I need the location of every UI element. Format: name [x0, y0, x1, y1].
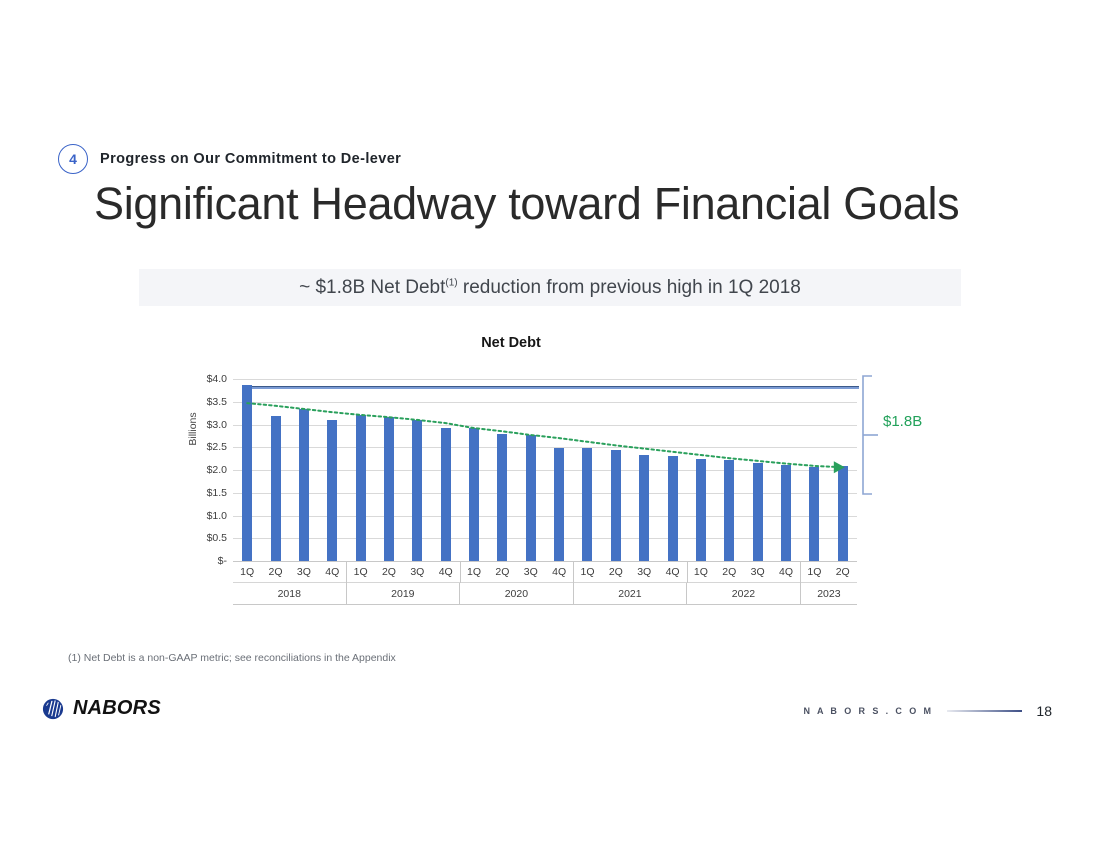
x-axis-quarter-label: 4Q: [432, 562, 460, 582]
callout-text: ~ $1.8B Net Debt(1) reduction from previ…: [299, 277, 801, 299]
y-axis-tick-label: $2.5: [169, 441, 227, 453]
peak-reference-line-dark: [252, 386, 859, 387]
x-axis-quarter-label: 3Q: [290, 562, 318, 582]
x-axis-year-label: 2022: [687, 583, 801, 604]
chart-bar: [441, 428, 451, 561]
nabors-logo: NABORS: [42, 697, 161, 720]
y-axis-tick-labels: $4.0$3.5$3.0$2.5$2.0$1.5$1.0$0.5$-: [165, 379, 227, 561]
bar-slot: [800, 379, 828, 561]
chart-bar: [724, 460, 734, 561]
bar-slot: [403, 379, 431, 561]
chart-bar: [242, 385, 252, 561]
bar-slot: [630, 379, 658, 561]
x-axis-year-label: 2020: [460, 583, 574, 604]
x-axis-quarter-label: 2Q: [261, 562, 289, 582]
bar-slot: [290, 379, 318, 561]
section-eyebrow: 4 Progress on Our Commitment to De-lever: [58, 144, 401, 174]
bar-slot: [375, 379, 403, 561]
bar-slot: [573, 379, 601, 561]
x-axis-year-row: 201820192020202120222023: [233, 583, 857, 604]
x-axis-quarter-label: 2Q: [829, 562, 857, 582]
chart-bars: [233, 379, 857, 561]
bar-slot: [261, 379, 289, 561]
chart-bar: [497, 434, 507, 561]
chart-bar: [469, 428, 479, 561]
chart-bar: [838, 466, 848, 561]
bar-slot: [829, 379, 857, 561]
bracket-value-label: $1.8B: [883, 413, 922, 430]
chart-bar: [412, 420, 422, 561]
page-number: 18: [1036, 703, 1052, 719]
x-axis-quarter-label: 1Q: [573, 562, 601, 582]
callout-prefix: ~ $1.8B Net Debt: [299, 277, 445, 298]
x-axis-year-label: 2021: [574, 583, 688, 604]
chart-bar: [781, 465, 791, 561]
x-axis-quarter-label: 3Q: [743, 562, 771, 582]
bar-slot: [318, 379, 346, 561]
callout-banner: ~ $1.8B Net Debt(1) reduction from previ…: [139, 269, 961, 306]
x-axis-quarter-label: 2Q: [488, 562, 516, 582]
y-axis-tick-label: $3.0: [169, 419, 227, 431]
y-axis-tick-label: $3.5: [169, 396, 227, 408]
chart-bar: [271, 416, 281, 561]
chart-plot-area: [233, 379, 857, 561]
y-axis-tick-label: $0.5: [169, 532, 227, 544]
chart-bar: [668, 456, 678, 561]
bar-slot: [715, 379, 743, 561]
x-axis-quarter-label: 2Q: [375, 562, 403, 582]
year-separator: [687, 562, 688, 583]
y-axis-tick-label: $4.0: [169, 373, 227, 385]
y-axis-tick-label: $-: [169, 555, 227, 567]
callout-suffix: reduction from previous high in 1Q 2018: [458, 277, 801, 298]
x-axis-quarter-label: 3Q: [517, 562, 545, 582]
x-axis-year-label: 2018: [233, 583, 347, 604]
y-axis-tick-label: $1.0: [169, 510, 227, 522]
bar-slot: [602, 379, 630, 561]
year-separator: [573, 562, 574, 583]
x-axis: 1Q2Q3Q4Q1Q2Q3Q4Q1Q2Q3Q4Q1Q2Q3Q4Q1Q2Q3Q4Q…: [233, 561, 857, 605]
chart-bar: [356, 415, 366, 561]
page-title: Significant Headway toward Financial Goa…: [94, 178, 959, 230]
x-axis-quarter-label: 1Q: [687, 562, 715, 582]
chart-bar: [526, 435, 536, 561]
footer-divider-rule: [947, 710, 1022, 711]
bar-slot: [432, 379, 460, 561]
y-axis-tick-label: $1.5: [169, 487, 227, 499]
x-axis-quarter-label: 4Q: [658, 562, 686, 582]
chart-bar: [554, 448, 564, 561]
x-axis-quarter-label: 3Q: [630, 562, 658, 582]
x-axis-year-label: 2019: [347, 583, 461, 604]
bar-slot: [772, 379, 800, 561]
x-axis-quarter-row: 1Q2Q3Q4Q1Q2Q3Q4Q1Q2Q3Q4Q1Q2Q3Q4Q1Q2Q3Q4Q…: [233, 562, 857, 583]
section-number-badge: 4: [58, 144, 88, 174]
nabors-logo-text: NABORS: [73, 697, 161, 720]
nabors-logo-icon: [42, 698, 64, 720]
y-axis-tick-label: $2.0: [169, 464, 227, 476]
chart-bar: [384, 417, 394, 561]
x-axis-quarter-label: 3Q: [403, 562, 431, 582]
bar-slot: [743, 379, 771, 561]
bracket-icon: [858, 375, 898, 495]
bar-slot: [545, 379, 573, 561]
chart-bar: [696, 459, 706, 561]
chart-bar: [327, 420, 337, 562]
section-eyebrow-label: Progress on Our Commitment to De-lever: [100, 151, 401, 167]
chart-bar: [753, 463, 763, 561]
x-axis-quarter-label: 4Q: [772, 562, 800, 582]
year-separator: [346, 562, 347, 583]
footnote: (1) Net Debt is a non-GAAP metric; see r…: [68, 652, 396, 664]
x-axis-quarter-label: 1Q: [346, 562, 374, 582]
chart-bar: [639, 455, 649, 561]
chart-title: Net Debt: [165, 335, 857, 351]
bar-slot: [346, 379, 374, 561]
chart-bar: [582, 448, 592, 561]
chart-bar: [611, 450, 621, 561]
year-separator: [460, 562, 461, 583]
x-axis-quarter-label: 4Q: [545, 562, 573, 582]
nabors-url: N A B O R S . C O M: [803, 706, 933, 716]
peak-reference-line: [252, 387, 859, 389]
x-axis-quarter-label: 4Q: [318, 562, 346, 582]
callout-footnote-marker: (1): [445, 277, 457, 288]
bar-slot: [460, 379, 488, 561]
x-axis-quarter-label: 2Q: [715, 562, 743, 582]
footer-right: N A B O R S . C O M 18: [803, 703, 1052, 719]
x-axis-quarter-label: 2Q: [602, 562, 630, 582]
bar-slot: [233, 379, 261, 561]
bar-slot: [488, 379, 516, 561]
x-axis-quarter-label: 1Q: [800, 562, 828, 582]
bracket-annotation: [858, 375, 898, 495]
x-axis-year-label: 2023: [801, 583, 857, 604]
net-debt-chart: Net Debt Billions $4.0$3.5$3.0$2.5$2.0$1…: [165, 335, 965, 625]
bar-slot: [658, 379, 686, 561]
year-separator: [800, 562, 801, 583]
bar-slot: [517, 379, 545, 561]
bar-slot: [687, 379, 715, 561]
x-axis-quarter-label: 1Q: [460, 562, 488, 582]
chart-bar: [299, 409, 309, 561]
chart-bar: [809, 467, 819, 561]
x-axis-quarter-label: 1Q: [233, 562, 261, 582]
